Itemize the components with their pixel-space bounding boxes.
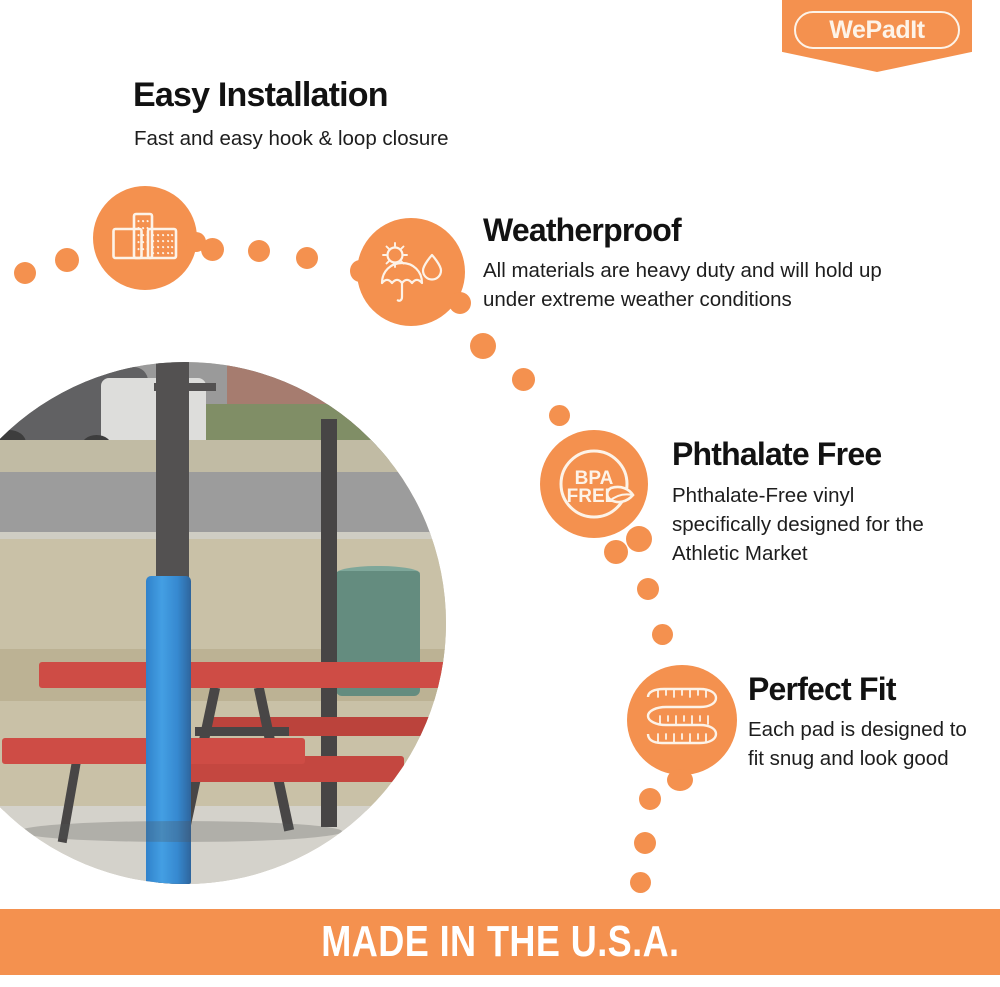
icon-blob-bump	[186, 232, 206, 252]
trail-dot	[55, 248, 79, 272]
infographic-canvas: WePadIt	[0, 0, 1000, 987]
trail-dot	[604, 540, 628, 564]
icon-blob-bump	[626, 526, 652, 552]
feature-title-weatherproof: Weatherproof	[483, 214, 681, 248]
trail-dot	[549, 405, 570, 426]
feature-title-phthalate-free: Phthalate Free	[672, 438, 881, 472]
trail-dot	[630, 872, 651, 893]
trail-dot	[470, 333, 496, 359]
measuring-tape-icon	[627, 665, 737, 775]
product-photo-pole-pad	[0, 362, 446, 884]
icon-blob-bump	[449, 292, 471, 314]
photo-haze-overlay	[0, 362, 446, 884]
feature-description-weatherproof: All materials are heavy duty and will ho…	[483, 256, 913, 314]
brand-logo: WePadIt	[782, 0, 972, 72]
icon-blob-bump	[667, 769, 693, 791]
feature-title-perfect-fit: Perfect Fit	[748, 673, 896, 707]
trail-dot	[296, 247, 318, 269]
trail-dot	[639, 788, 661, 810]
feature-description-perfect-fit: Each pad is designed to fit snug and loo…	[748, 715, 973, 773]
sun-umbrella-raindrop-icon	[357, 218, 465, 326]
trail-dot	[634, 832, 656, 854]
feature-description-easy-installation: Fast and easy hook & loop closure	[134, 124, 554, 153]
made-in-usa-banner: MADE IN THE U.S.A.	[0, 909, 1000, 975]
trail-dot	[652, 624, 673, 645]
logo-text-pad: Pad	[866, 16, 911, 44]
trail-dot	[14, 262, 36, 284]
logo-text-it: It	[910, 16, 924, 44]
feature-title-easy-installation: Easy Installation	[133, 78, 388, 114]
logo-text-we: We	[829, 16, 865, 44]
trail-dot	[512, 368, 535, 391]
made-in-usa-text: MADE IN THE U.S.A.	[321, 920, 679, 964]
building-installation-icon	[93, 186, 197, 290]
trail-dot	[248, 240, 270, 262]
bpa-free-leaf-icon: BPA FREE	[540, 430, 648, 538]
logo-text: WePadIt	[829, 18, 924, 43]
icon-blob-bump	[350, 260, 370, 282]
feature-description-phthalate-free: Phthalate-Free vinyl specifically design…	[672, 481, 942, 568]
logo-outline-box: WePadIt	[794, 11, 960, 49]
trail-dot	[637, 578, 659, 600]
